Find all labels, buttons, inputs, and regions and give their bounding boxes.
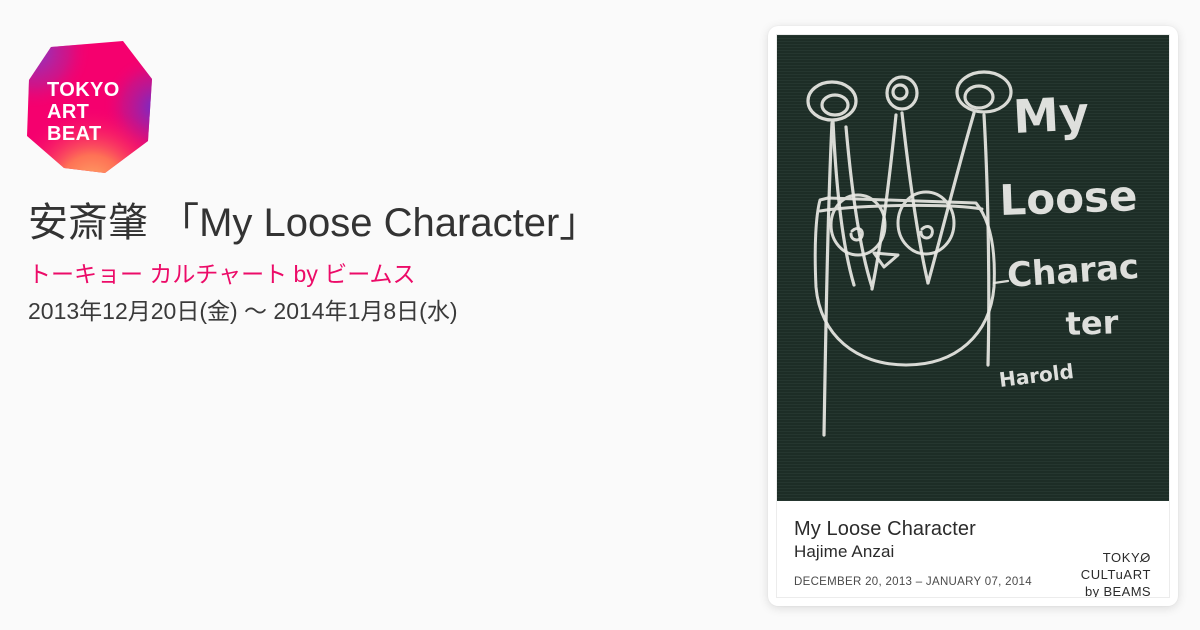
event-info-block: 安斎肇 「My Loose Character」 トーキョー カルチャート by… <box>28 196 728 327</box>
logo-line-tokyo: TOKYO <box>47 79 120 101</box>
chalk-word-my: My <box>1012 86 1090 144</box>
event-dates: 2013年12月20日(金) 〜 2014年1月8日(水) <box>28 295 728 327</box>
cultuart-logo-line2: CULTuART <box>1081 566 1151 583</box>
poster-caption: My Loose Character Hajime Anzai DECEMBER… <box>777 501 1169 598</box>
cultuart-logo-line3: by BEAMS <box>1081 583 1151 598</box>
logo-line-art: ART <box>47 101 120 123</box>
cultuart-logo: TOKYO CULTuART by BEAMS <box>1081 549 1151 598</box>
event-venue[interactable]: トーキョー カルチャート by ビームス <box>28 258 728 290</box>
poster-inner: My Loose Charac ter . Harold My Loose Ch… <box>776 34 1170 598</box>
slashed-o-icon: O <box>1140 549 1151 566</box>
page-title: 安斎肇 「My Loose Character」 <box>28 196 728 250</box>
cultuart-logo-tokyo: TOKY <box>1103 550 1141 565</box>
logo-wordmark: TOKYO ART BEAT <box>47 79 120 145</box>
chalk-drawing-icon: My Loose Charac ter . Harold <box>777 35 1169 501</box>
cultuart-logo-line1: TOKYO <box>1081 549 1151 566</box>
tokyo-art-beat-logo[interactable]: TOKYO ART BEAT <box>15 35 163 185</box>
chalk-word-harold: Harold <box>998 359 1075 392</box>
page-root: TOKYO ART BEAT 安斎肇 「My Loose Character」 … <box>0 0 1200 630</box>
chalk-word-charac: Charac <box>1006 247 1140 296</box>
poster-card[interactable]: My Loose Charac ter . Harold My Loose Ch… <box>768 26 1178 606</box>
poster-artwork: My Loose Charac ter . Harold <box>777 35 1169 501</box>
poster-caption-title: My Loose Character <box>794 517 1152 541</box>
chalk-word-loose: Loose <box>999 171 1139 225</box>
logo-line-beat: BEAT <box>47 123 120 145</box>
chalk-word-ter: ter <box>1065 303 1119 343</box>
